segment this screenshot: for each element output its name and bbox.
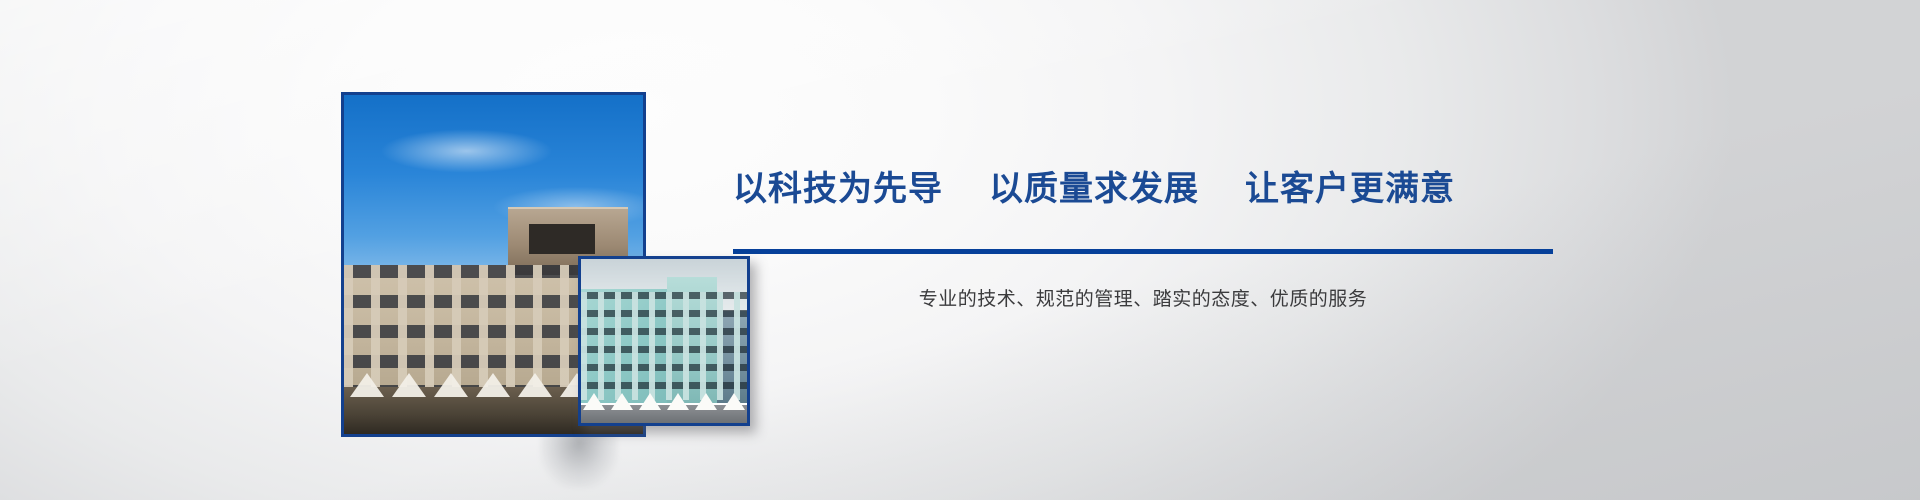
secondary-building-photo	[578, 256, 750, 426]
headline-segment-2: 以质量求发展	[989, 172, 1199, 206]
cloud-icon	[380, 129, 553, 173]
banner-subtitle: 专业的技术、规范的管理、踏实的态度、优质的服务	[733, 284, 1553, 311]
rooftop-opening	[529, 224, 595, 255]
headline-segment-3: 让客户更满意	[1245, 172, 1455, 206]
horizontal-divider	[733, 249, 1553, 254]
company-banner: 以科技为先导以质量求发展让客户更满意 专业的技术、规范的管理、踏实的态度、优质的…	[0, 0, 1920, 500]
tent-canopies	[581, 390, 747, 410]
headline-segment-1: 以科技为先导	[733, 172, 943, 206]
photo-shadow-reflection	[540, 432, 618, 488]
banner-headline: 以科技为先导以质量求发展让客户更满意	[733, 172, 1455, 206]
secondary-photo-artwork	[581, 259, 747, 423]
window-columns	[581, 292, 747, 400]
